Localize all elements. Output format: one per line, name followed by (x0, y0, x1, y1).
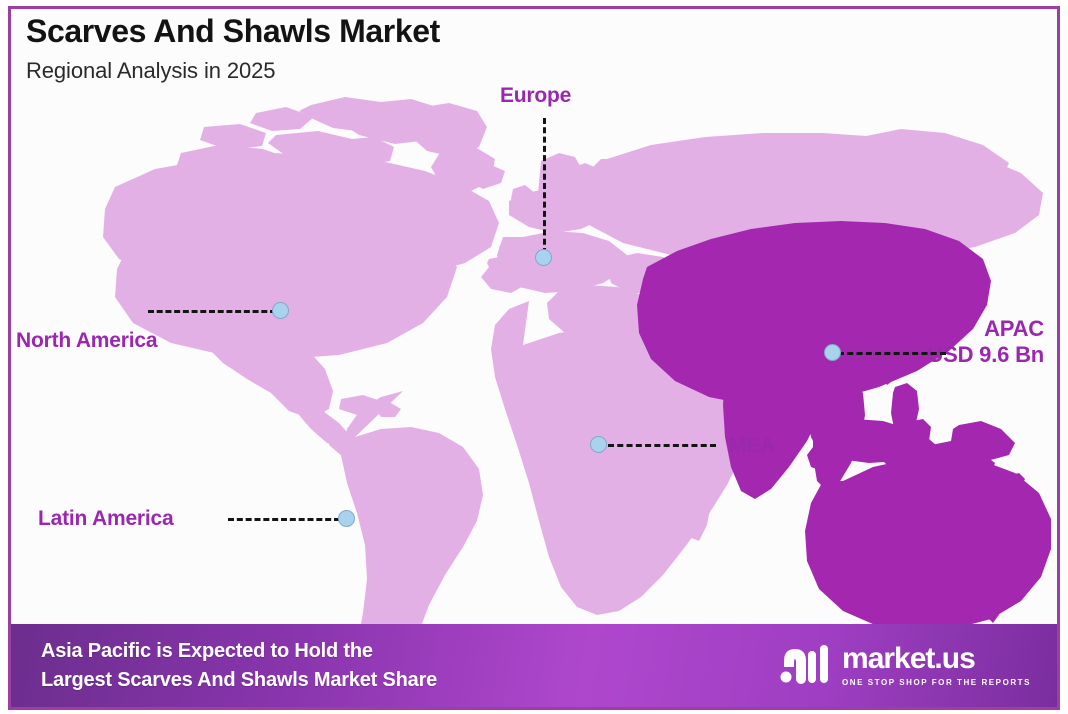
logo-tagline: ONE STOP SHOP FOR THE REPORTS (842, 678, 1031, 687)
footer-message: Asia Pacific is Expected to Hold the Lar… (41, 637, 437, 694)
header: Scarves And Shawls Market Regional Analy… (26, 14, 440, 84)
footer-line-1: Asia Pacific is Expected to Hold the (41, 637, 437, 665)
market-us-logo-text: market.us ONE STOP SHOP FOR THE REPORTS (842, 644, 1031, 687)
page-title: Scarves And Shawls Market (26, 14, 440, 49)
market-us-logo-icon (778, 643, 832, 689)
market-us-logo[interactable]: market.us ONE STOP SHOP FOR THE REPORTS (778, 643, 1031, 689)
infographic-root: Scarves And Shawls Market Regional Analy… (0, 0, 1068, 714)
world-map (11, 9, 1057, 625)
logo-wordmark: market.us (842, 644, 975, 674)
page-subtitle: Regional Analysis in 2025 (26, 58, 440, 84)
footer-line-2: Largest Scarves And Shawls Market Share (41, 666, 437, 694)
footer-banner: Asia Pacific is Expected to Hold the Lar… (11, 624, 1057, 707)
